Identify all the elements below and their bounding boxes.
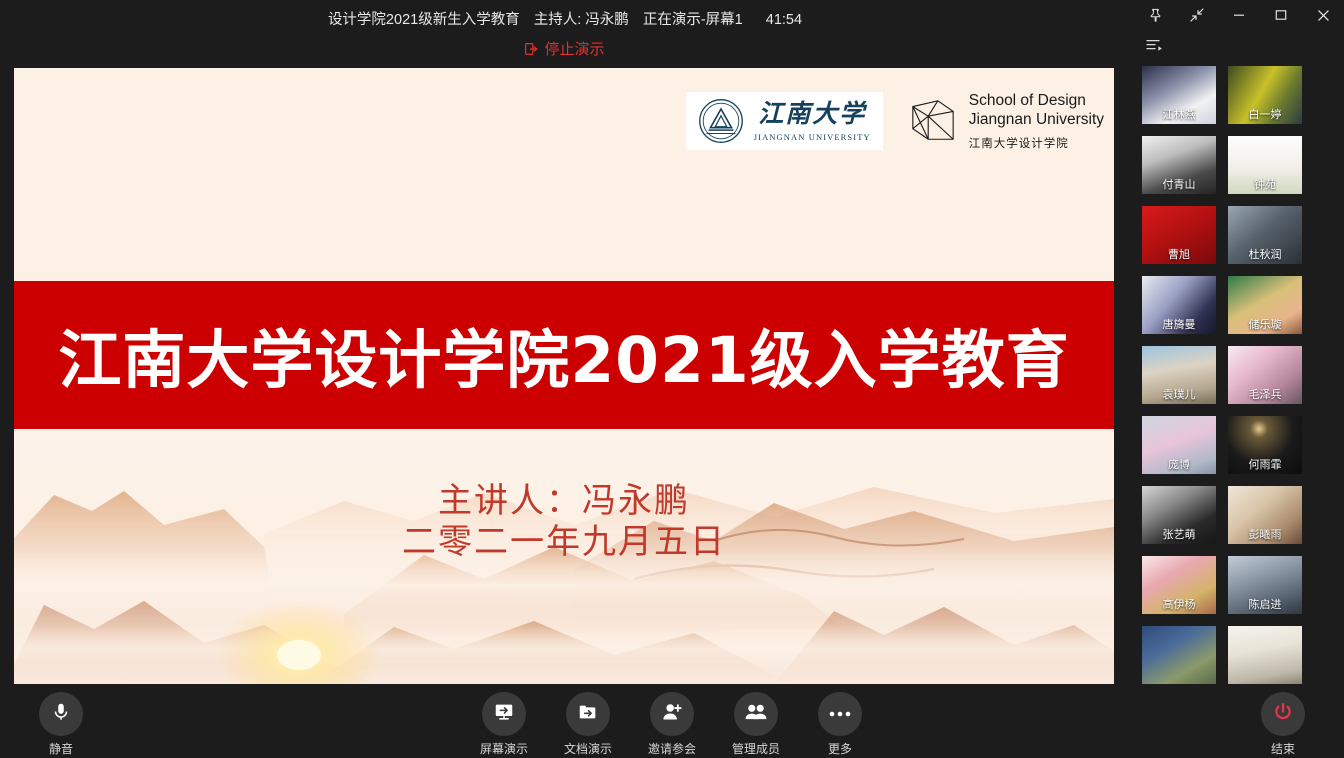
- participant-thumbnail[interactable]: 钟苑: [1228, 136, 1302, 194]
- mute-label: 静音: [18, 740, 104, 757]
- stop-share-button[interactable]: 停止演示: [0, 38, 1130, 59]
- school-of-design-text: School of Design Jiangnan University 江南大…: [969, 92, 1104, 151]
- slide-subtitle-block: 主讲人：冯永鹏 二零二一年九月五日: [14, 481, 1114, 564]
- slide-logos: 江南大学 JIANGNAN UNIVERSITY: [686, 92, 1104, 151]
- participant-name: 付青山: [1142, 176, 1216, 192]
- meeting-host: 主持人: 冯永鹏: [534, 12, 629, 28]
- close-button[interactable]: [1302, 0, 1344, 30]
- screen-share-label: 屏幕演示: [472, 740, 536, 757]
- close-icon: [1316, 8, 1331, 23]
- participant-thumbnail[interactable]: 白一婷: [1228, 66, 1302, 124]
- participant-thumbnail[interactable]: 张艺萌: [1142, 486, 1216, 544]
- mute-button-circle: [39, 692, 83, 736]
- participant-name: 彭曦雨: [1228, 526, 1302, 542]
- participant-thumbnail[interactable]: [1228, 626, 1302, 684]
- screen-share-button[interactable]: 屏幕演示: [472, 692, 536, 757]
- participant-list-toggle[interactable]: [1143, 36, 1167, 58]
- shared-screen-slide[interactable]: 江南大学 JIANGNAN UNIVERSITY: [14, 68, 1114, 684]
- invite-button[interactable]: 邀请参会: [640, 692, 704, 757]
- sod-line1: School of Design: [969, 92, 1104, 111]
- minimize-icon: [1232, 8, 1246, 22]
- manage-members-circle: [734, 692, 778, 736]
- stop-share-icon: [525, 43, 538, 55]
- participant-thumbnail[interactable]: 唐旖曼: [1142, 276, 1216, 334]
- manage-members-button[interactable]: 管理成员: [724, 692, 788, 757]
- participant-name: 毛泽兵: [1228, 386, 1302, 402]
- slide-title-banner: 江南大学设计学院2021级入学教育: [14, 281, 1114, 429]
- maximize-button[interactable]: [1260, 0, 1302, 30]
- school-of-design-logo: School of Design Jiangnan University 江南大…: [909, 92, 1104, 151]
- sod-line2: Jiangnan University: [969, 111, 1104, 130]
- window-controls: [1134, 0, 1344, 30]
- participant-thumbnail[interactable]: 高伊杨: [1142, 556, 1216, 614]
- participant-thumbnail[interactable]: 庞博: [1142, 416, 1216, 474]
- meeting-title: 设计学院2021级新生入学教育: [328, 12, 520, 28]
- participant-name: 张艺萌: [1142, 526, 1216, 542]
- sharing-status: 正在演示-屏幕1: [643, 12, 743, 28]
- participant-name: 袁璞儿: [1142, 386, 1216, 402]
- slide-artwork-area: 主讲人：冯永鹏 二零二一年九月五日: [14, 429, 1114, 684]
- participant-name: 钟苑: [1228, 176, 1302, 192]
- people-icon: [744, 701, 768, 728]
- participant-thumbnail[interactable]: 何雨霏: [1228, 416, 1302, 474]
- end-meeting-label: 结束: [1240, 740, 1326, 757]
- more-label: 更多: [808, 740, 872, 757]
- power-icon: [1272, 701, 1294, 728]
- participant-list-icon: [1146, 38, 1164, 57]
- participant-thumbnail[interactable]: 杜秋润: [1228, 206, 1302, 264]
- university-seal-icon: [698, 98, 744, 144]
- end-meeting-button[interactable]: 结束: [1240, 692, 1326, 757]
- microphone-icon: [50, 701, 72, 728]
- participant-name: 江林燕: [1142, 106, 1216, 122]
- add-person-icon: [661, 701, 683, 728]
- center-tool-group: 屏幕演示 文档演示: [472, 692, 872, 757]
- slide-subtitle-date: 二零二一年九月五日: [14, 522, 1114, 563]
- participant-thumbnail[interactable]: 储乐璇: [1228, 276, 1302, 334]
- participant-thumbnail[interactable]: 毛泽兵: [1228, 346, 1302, 404]
- shrink-window-button[interactable]: [1176, 0, 1218, 30]
- doc-share-button[interactable]: 文档演示: [556, 692, 620, 757]
- participant-name: 白一婷: [1228, 106, 1302, 122]
- meeting-toolbar: 静音 屏幕演示: [0, 684, 1344, 758]
- ellipsis-icon: [828, 705, 852, 723]
- avatar: [1228, 626, 1302, 684]
- mute-button[interactable]: 静音: [18, 692, 104, 757]
- screen-share-circle: [482, 692, 526, 736]
- jiangnan-wordmark: 江南大学 JIANGNAN UNIVERSITY: [754, 101, 871, 142]
- participant-name: 杜秋润: [1228, 246, 1302, 262]
- participant-thumbnail[interactable]: 付青山: [1142, 136, 1216, 194]
- participant-grid: 江林燕 白一婷 付青山 钟苑 曹旭 杜秋润: [1138, 66, 1344, 684]
- participant-name: 唐旖曼: [1142, 316, 1216, 332]
- folder-share-icon: [577, 701, 599, 728]
- slide-subtitle-speaker: 主讲人：冯永鹏: [14, 481, 1114, 522]
- invite-circle: [650, 692, 694, 736]
- participant-thumbnail[interactable]: [1142, 626, 1216, 684]
- participant-name: 何雨霏: [1228, 456, 1302, 472]
- participant-thumbnail[interactable]: 袁璞儿: [1142, 346, 1216, 404]
- jiangnan-university-logo: 江南大学 JIANGNAN UNIVERSITY: [686, 92, 883, 150]
- meeting-timer: 41:54: [766, 12, 802, 28]
- participant-thumbnail[interactable]: 陈启进: [1228, 556, 1302, 614]
- stop-share-label: 停止演示: [544, 41, 604, 58]
- meeting-app-window: 设计学院2021级新生入学教育 主持人: 冯永鹏 正在演示-屏幕1 41:54 …: [0, 0, 1344, 758]
- doc-share-label: 文档演示: [556, 740, 620, 757]
- more-circle: [818, 692, 862, 736]
- manage-members-label: 管理成员: [724, 740, 788, 757]
- participant-name: 储乐璇: [1228, 316, 1302, 332]
- jiangnan-cn-text: 江南大学: [758, 101, 866, 129]
- more-button[interactable]: 更多: [808, 692, 872, 757]
- participant-name: 高伊杨: [1142, 596, 1216, 612]
- participant-thumbnail[interactable]: 江林燕: [1142, 66, 1216, 124]
- shrink-icon: [1189, 7, 1205, 23]
- invite-label: 邀请参会: [640, 740, 704, 757]
- school-of-design-mark-icon: [909, 97, 957, 145]
- doc-share-circle: [566, 692, 610, 736]
- slide-title: 江南大学设计学院2021级入学教育: [58, 310, 1069, 401]
- slide-header-area: 江南大学 JIANGNAN UNIVERSITY: [14, 68, 1114, 281]
- meeting-info-bar: 设计学院2021级新生入学教育 主持人: 冯永鹏 正在演示-屏幕1 41:54: [0, 8, 1130, 29]
- participant-name: 曹旭: [1142, 246, 1216, 262]
- screen-share-icon: [493, 701, 515, 728]
- participant-thumbnail[interactable]: 曹旭: [1142, 206, 1216, 264]
- maximize-icon: [1274, 8, 1288, 22]
- pin-button[interactable]: [1134, 0, 1176, 30]
- participant-thumbnail[interactable]: 彭曦雨: [1228, 486, 1302, 544]
- participant-name: 庞博: [1142, 456, 1216, 472]
- participant-thumbnail-panel[interactable]: 江林燕 白一婷 付青山 钟苑 曹旭 杜秋润: [1138, 66, 1344, 686]
- avatar: [1142, 626, 1216, 684]
- jiangnan-en-text: JIANGNAN UNIVERSITY: [754, 132, 871, 142]
- minimize-button[interactable]: [1218, 0, 1260, 30]
- title-bar: 设计学院2021级新生入学教育 主持人: 冯永鹏 正在演示-屏幕1 41:54 …: [0, 0, 1344, 68]
- pin-icon: [1148, 8, 1163, 23]
- end-meeting-circle: [1261, 692, 1305, 736]
- participant-name: 陈启进: [1228, 596, 1302, 612]
- sod-cn: 江南大学设计学院: [969, 135, 1104, 151]
